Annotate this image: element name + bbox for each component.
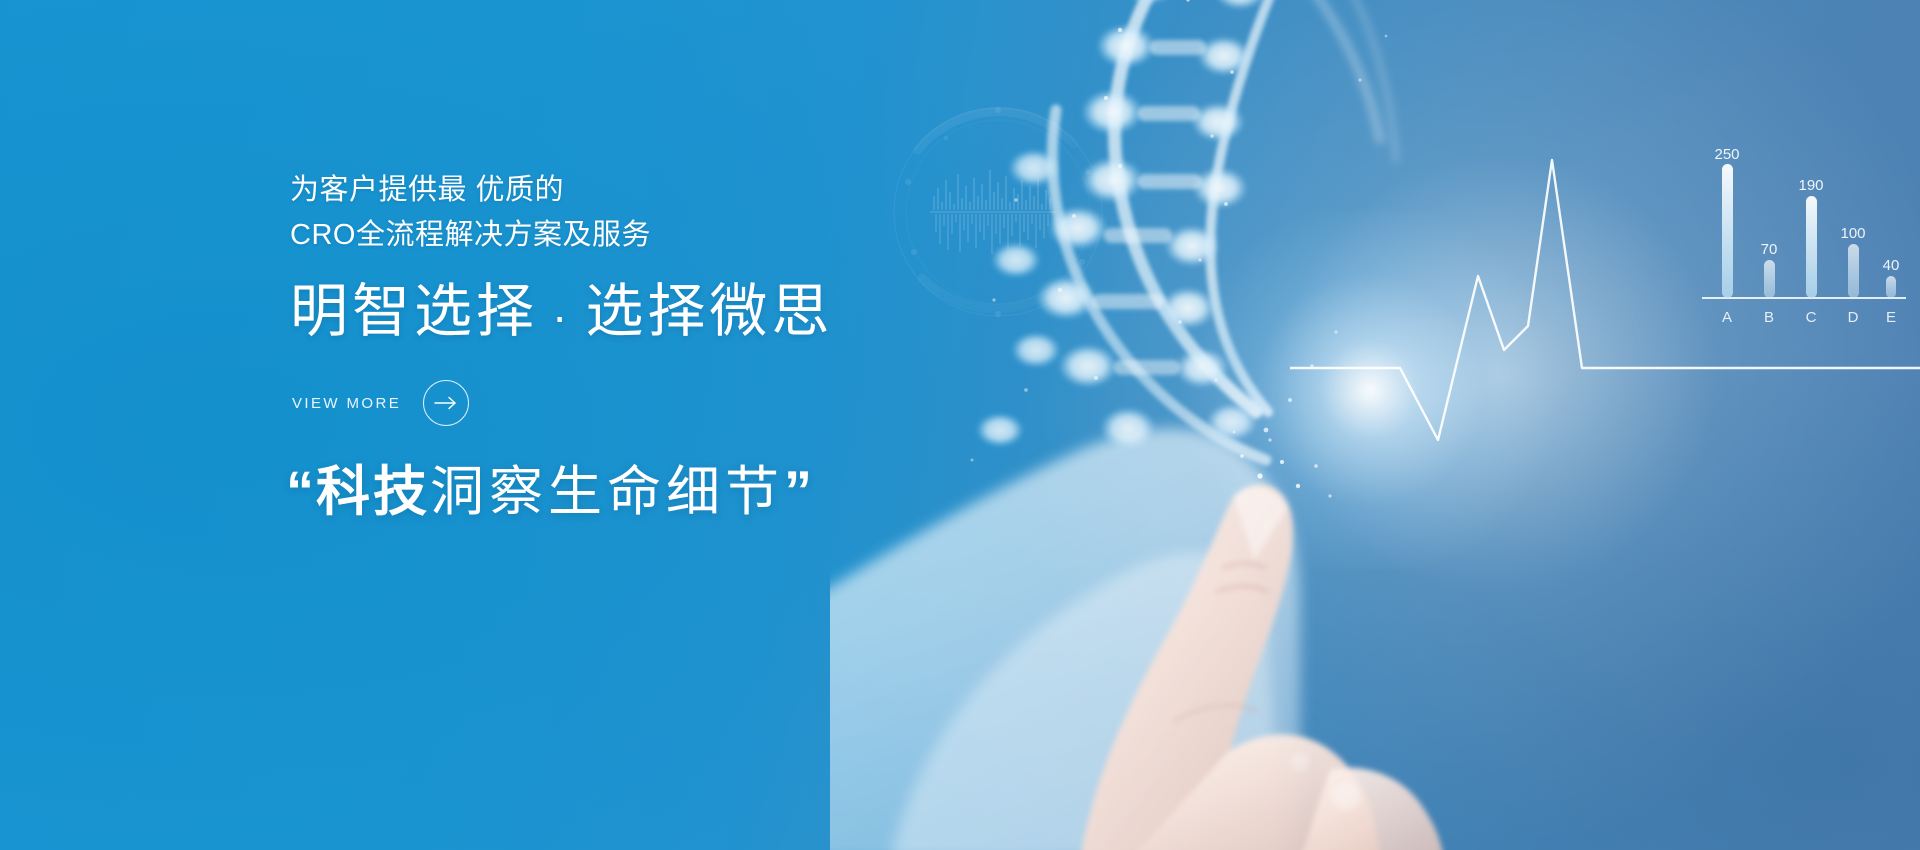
hero-slogan: “科技洞察生命细节” — [286, 455, 814, 528]
svg-text:C: C — [1806, 309, 1817, 326]
bar-chart: 250 70 190 100 40 A B C D E — [1690, 148, 1920, 338]
svg-text:190: 190 — [1798, 177, 1823, 194]
view-more-label: VIEW MORE — [292, 395, 401, 412]
quote-close-mark: ” — [784, 459, 814, 522]
svg-text:100: 100 — [1840, 225, 1865, 242]
arrow-right-icon — [434, 396, 458, 410]
svg-text:B: B — [1764, 309, 1774, 326]
svg-text:250: 250 — [1714, 148, 1739, 163]
svg-text:70: 70 — [1761, 241, 1778, 258]
hero-content: 为客户提供最 优质的 CRO全流程解决方案及服务 明智选择·选择微思 VIEW … — [290, 0, 990, 850]
hero-subtitle: 为客户提供最 优质的 CRO全流程解决方案及服务 — [290, 168, 990, 258]
view-more-circle[interactable] — [423, 380, 469, 426]
svg-text:D: D — [1848, 309, 1859, 326]
svg-text:E: E — [1886, 309, 1896, 326]
svg-text:A: A — [1722, 309, 1732, 326]
hero-banner: 250 70 190 100 40 A B C D E 为客户提供最 优质的 C… — [0, 0, 1920, 850]
headline-separator: · — [538, 290, 585, 342]
hero-subtitle-line2: CRO全流程解决方案及服务 — [290, 213, 990, 258]
headline-right: 选择微思 — [585, 279, 833, 344]
hero-subtitle-line1: 为客户提供最 优质的 — [290, 174, 564, 206]
page-title: 明智选择·选择微思 — [290, 275, 833, 353]
svg-text:40: 40 — [1883, 257, 1900, 274]
view-more-button[interactable]: VIEW MORE — [292, 380, 469, 426]
headline-left: 明智选择 — [290, 279, 538, 344]
slogan-light: 洞察生命细节 — [430, 462, 784, 522]
slogan-strong: 科技 — [316, 462, 430, 522]
quote-open-mark: “ — [286, 459, 316, 522]
